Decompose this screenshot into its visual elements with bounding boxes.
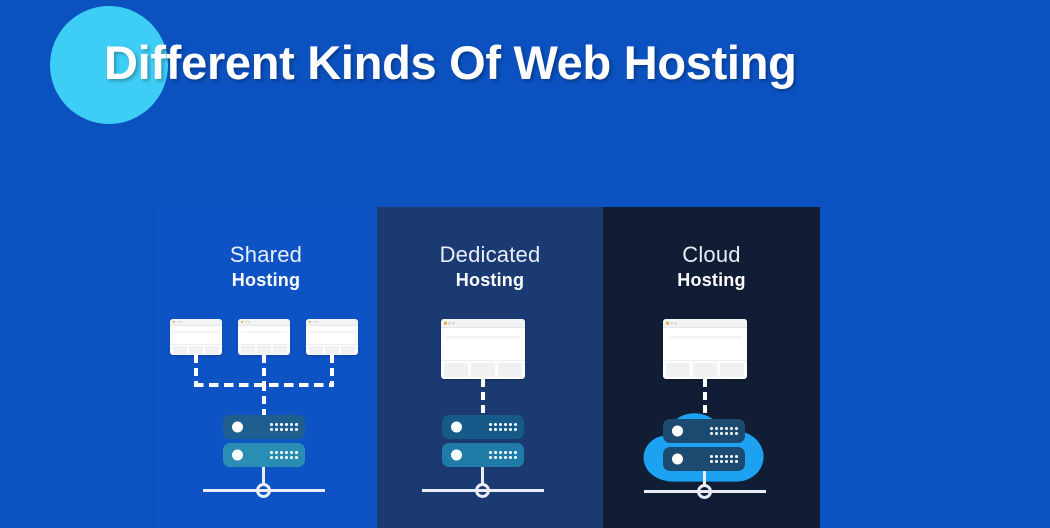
panel-dedicated-illustration bbox=[377, 315, 603, 528]
server-rack-icon bbox=[223, 415, 305, 467]
browser-card-row bbox=[441, 363, 525, 377]
browser-card-row bbox=[170, 346, 222, 354]
panel-cloud-word-label: Hosting bbox=[603, 268, 820, 292]
panel-cloud-type-label: Cloud bbox=[603, 241, 820, 268]
server-led bbox=[232, 422, 243, 433]
server-unit-bottom bbox=[663, 447, 745, 471]
browser-card-row bbox=[306, 346, 358, 354]
browser-traffic-dots bbox=[309, 321, 318, 323]
server-led bbox=[232, 450, 243, 461]
server-rack-icon bbox=[663, 419, 745, 471]
browser-card bbox=[444, 363, 468, 377]
server-port-grid bbox=[489, 451, 517, 459]
connector-drop-right bbox=[330, 355, 334, 383]
network-node-icon bbox=[256, 483, 271, 498]
browser-card-row bbox=[663, 363, 747, 377]
server-unit-bottom bbox=[223, 443, 305, 467]
browser-hero-bar bbox=[173, 331, 219, 333]
server-unit-top bbox=[663, 419, 745, 443]
browser-card bbox=[257, 346, 271, 354]
server-port-grid bbox=[270, 423, 298, 431]
connector-server-to-ground bbox=[703, 471, 706, 485]
server-led bbox=[451, 422, 462, 433]
browser-titlebar bbox=[170, 319, 222, 326]
browser-card bbox=[471, 363, 495, 377]
browser-window-icon bbox=[170, 319, 222, 355]
connector-drop-center bbox=[262, 355, 266, 383]
browser-titlebar bbox=[306, 319, 358, 326]
panel-shared-word-label: Hosting bbox=[155, 268, 377, 292]
connector-bus-to-server bbox=[262, 383, 266, 415]
connector-server-to-ground bbox=[262, 467, 265, 484]
browser-traffic-dots bbox=[241, 321, 250, 323]
browser-window-icon bbox=[441, 319, 525, 379]
browser-window-icon bbox=[663, 319, 747, 379]
panel-shared-hosting[interactable]: Shared Hosting bbox=[155, 207, 377, 528]
connector-drop-left bbox=[194, 355, 198, 383]
browser-card bbox=[189, 346, 203, 354]
browser-titlebar bbox=[663, 319, 747, 328]
browser-card bbox=[341, 346, 355, 354]
browser-card bbox=[173, 346, 187, 354]
browser-card bbox=[720, 363, 744, 377]
browser-window-icon bbox=[306, 319, 358, 355]
browser-traffic-dots bbox=[444, 322, 455, 325]
panel-dedicated-heading: Dedicated Hosting bbox=[377, 241, 603, 292]
server-port-grid bbox=[489, 423, 517, 431]
panel-cloud-illustration bbox=[603, 315, 820, 528]
connector-server-to-ground bbox=[481, 467, 484, 484]
browser-traffic-dots bbox=[666, 322, 677, 325]
server-port-grid bbox=[270, 451, 298, 459]
browser-card bbox=[241, 346, 255, 354]
browser-card bbox=[325, 346, 339, 354]
browser-hero-bar bbox=[668, 336, 742, 339]
panel-shared-type-label: Shared bbox=[155, 241, 377, 268]
panel-cloud-hosting[interactable]: Cloud Hosting bbox=[603, 207, 820, 528]
browser-hero-bar bbox=[309, 331, 355, 333]
browser-hero-area bbox=[238, 326, 290, 345]
connector-client-to-server bbox=[481, 379, 485, 415]
server-port-grid bbox=[710, 455, 738, 463]
server-port-grid bbox=[710, 427, 738, 435]
browser-hero-area bbox=[663, 328, 747, 361]
panel-dedicated-word-label: Hosting bbox=[377, 268, 603, 292]
server-led bbox=[672, 454, 683, 465]
network-node-icon bbox=[697, 484, 712, 499]
browser-hero-bar bbox=[446, 336, 520, 339]
header: Different Kinds Of Web Hosting bbox=[0, 0, 1050, 140]
panel-shared-heading: Shared Hosting bbox=[155, 241, 377, 292]
server-unit-top bbox=[442, 415, 524, 439]
browser-hero-area bbox=[170, 326, 222, 345]
browser-window-icon bbox=[238, 319, 290, 355]
server-rack-icon bbox=[442, 415, 524, 467]
browser-card bbox=[693, 363, 717, 377]
browser-card-row bbox=[238, 346, 290, 354]
panel-dedicated-type-label: Dedicated bbox=[377, 241, 603, 268]
browser-hero-area bbox=[441, 328, 525, 361]
browser-traffic-dots bbox=[173, 321, 182, 323]
server-led bbox=[451, 450, 462, 461]
server-unit-bottom bbox=[442, 443, 524, 467]
browser-card bbox=[273, 346, 287, 354]
browser-hero-bar bbox=[241, 331, 287, 333]
panel-dedicated-hosting[interactable]: Dedicated Hosting bbox=[377, 207, 603, 528]
browser-card bbox=[309, 346, 323, 354]
server-led bbox=[672, 426, 683, 437]
browser-titlebar bbox=[441, 319, 525, 328]
panel-cloud-heading: Cloud Hosting bbox=[603, 241, 820, 292]
browser-card bbox=[205, 346, 219, 354]
browser-titlebar bbox=[238, 319, 290, 326]
network-node-icon bbox=[475, 483, 490, 498]
browser-hero-area bbox=[306, 326, 358, 345]
browser-card bbox=[666, 363, 690, 377]
hosting-types-row: Shared Hosting bbox=[155, 207, 820, 528]
page-title: Different Kinds Of Web Hosting bbox=[104, 32, 964, 94]
browser-card bbox=[498, 363, 522, 377]
server-unit-top bbox=[223, 415, 305, 439]
panel-shared-illustration bbox=[155, 315, 377, 528]
